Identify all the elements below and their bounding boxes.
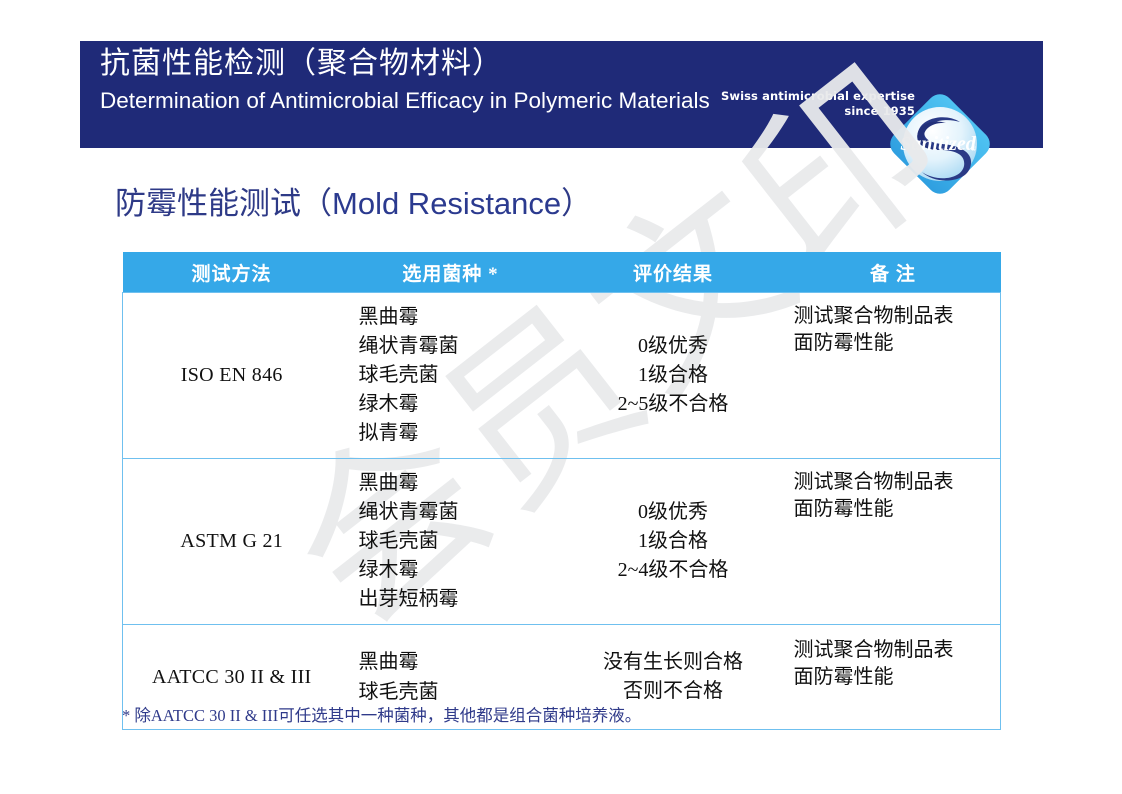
- cell-test-method: ISO EN 846: [123, 293, 341, 459]
- result-item: 1级合格: [561, 527, 786, 556]
- table-header-row: 测试方法 选用菌种 * 评价结果 备 注: [123, 252, 1001, 293]
- cell-remarks: 测试聚合物制品表 面防霉性能: [786, 625, 1001, 730]
- header-title-chinese: 抗菌性能检测（聚合物材料）: [100, 44, 780, 84]
- result-item: 2~4级不合格: [561, 556, 786, 585]
- column-header-evaluation-result: 评价结果: [561, 252, 786, 293]
- strain-item: 球毛壳菌: [359, 361, 561, 390]
- strain-item: 拟青霉: [359, 419, 561, 448]
- column-header-test-method: 测试方法: [123, 252, 341, 293]
- logo-registered-mark: ®: [970, 145, 977, 153]
- cell-remarks: 测试聚合物制品表 面防霉性能: [786, 293, 1001, 459]
- cell-test-method: ASTM G 21: [123, 459, 341, 625]
- remark-line: 测试聚合物制品表: [794, 637, 1001, 664]
- cell-evaluation-result: 0级优秀 1级合格 2~5级不合格: [561, 293, 786, 459]
- table-row: ASTM G 21 黑曲霉 绳状青霉菌 球毛壳菌 绿木霉 出芽短柄霉 0级优秀 …: [123, 459, 1001, 625]
- strain-item: 黑曲霉: [359, 647, 561, 677]
- logo-wordmark: Sanitized: [900, 133, 977, 155]
- header-title-block: 抗菌性能检测（聚合物材料） Determination of Antimicro…: [100, 44, 780, 116]
- result-item: 没有生长则合格: [561, 648, 786, 677]
- remark-line: 面防霉性能: [794, 496, 1001, 523]
- result-item: 1级合格: [561, 361, 786, 390]
- column-header-selected-strains: 选用菌种 *: [341, 252, 561, 293]
- strain-item: 球毛壳菌: [359, 527, 561, 556]
- remark-line: 面防霉性能: [794, 330, 1001, 357]
- strain-item: 黑曲霉: [359, 303, 561, 332]
- result-item: 0级优秀: [561, 498, 786, 527]
- section-heading: 防霉性能测试（Mold Resistance）: [115, 182, 592, 226]
- section-heading-english: Mold Resistance: [332, 186, 561, 221]
- section-heading-bracket-close: ）: [561, 186, 592, 221]
- table-footnote: * 除AATCC 30 II & III可任选其中一种菌种，其他都是组合菌种培养…: [122, 702, 641, 726]
- strain-item: 绳状青霉菌: [359, 332, 561, 361]
- section-heading-bracket-open: （: [301, 186, 332, 221]
- header-title-english: Determination of Antimicrobial Efficacy …: [100, 86, 780, 116]
- remark-line: 面防霉性能: [794, 664, 1001, 691]
- result-item: 2~5级不合格: [561, 390, 786, 419]
- table-row: ISO EN 846 黑曲霉 绳状青霉菌 球毛壳菌 绿木霉 拟青霉 0级优秀 1…: [123, 293, 1001, 459]
- mold-resistance-table: 测试方法 选用菌种 * 评价结果 备 注 ISO EN 846 黑曲霉 绳状青霉…: [122, 252, 1001, 730]
- section-heading-chinese: 防霉性能测试: [115, 186, 301, 221]
- cell-evaluation-result: 0级优秀 1级合格 2~4级不合格: [561, 459, 786, 625]
- cell-selected-strains: 黑曲霉 绳状青霉菌 球毛壳菌 绿木霉 出芽短柄霉: [341, 459, 561, 625]
- strain-item: 出芽短柄霉: [359, 585, 561, 614]
- strain-item: 黑曲霉: [359, 469, 561, 498]
- sanitized-logo: Sanitized ®: [884, 88, 996, 200]
- strain-item: 绿木霉: [359, 390, 561, 419]
- column-header-remarks: 备 注: [786, 252, 1001, 293]
- strain-item: 绿木霉: [359, 556, 561, 585]
- remark-line: 测试聚合物制品表: [794, 469, 1001, 496]
- remark-line: 测试聚合物制品表: [794, 303, 1001, 330]
- result-item: 0级优秀: [561, 332, 786, 361]
- strain-item: 绳状青霉菌: [359, 498, 561, 527]
- sanitized-logo-icon: Sanitized ®: [884, 88, 996, 200]
- cell-remarks: 测试聚合物制品表 面防霉性能: [786, 459, 1001, 625]
- cell-selected-strains: 黑曲霉 绳状青霉菌 球毛壳菌 绿木霉 拟青霉: [341, 293, 561, 459]
